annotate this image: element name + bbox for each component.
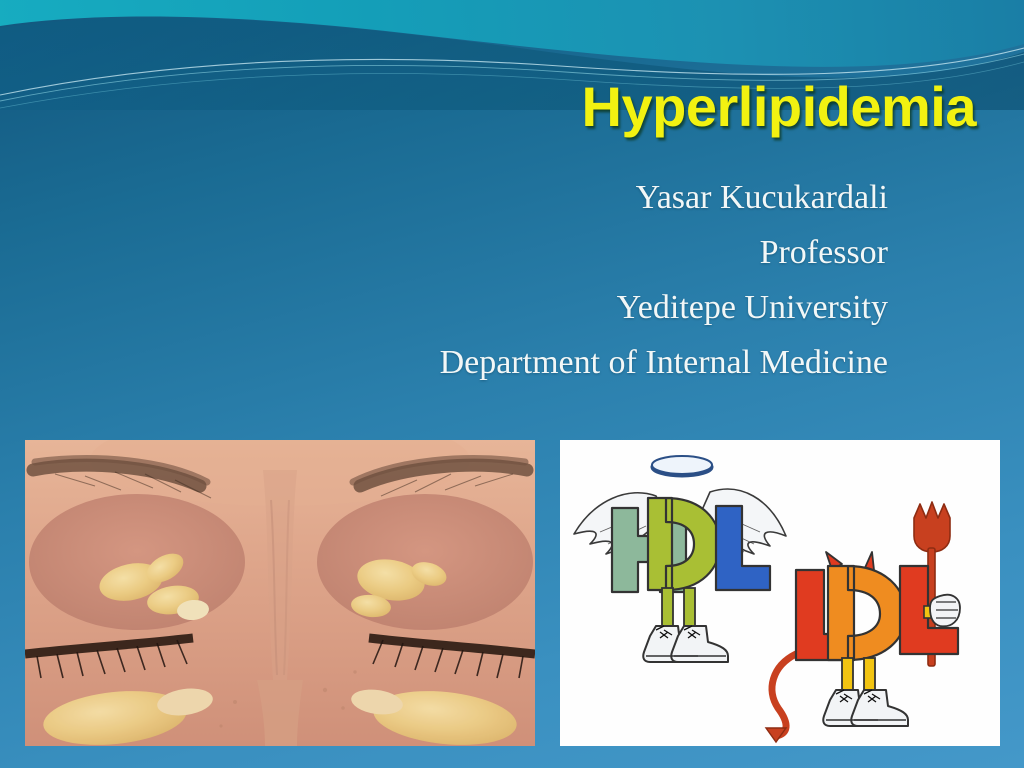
subtitle-institution: Yeditepe University: [0, 280, 888, 335]
slide-title: Hyperlipidemia: [0, 78, 976, 137]
halo-icon: [652, 456, 712, 476]
devil-hand-icon: [930, 595, 960, 627]
subtitle-role: Professor: [0, 225, 888, 280]
xanthelasma-eyelids-photo: [25, 440, 535, 746]
subtitle-department: Department of Internal Medicine: [0, 335, 888, 390]
subtitle-author: Yasar Kucukardali: [0, 170, 888, 225]
hdl-ldl-cartoon: [560, 440, 1000, 746]
wave-shape-teal: [0, 0, 1024, 67]
presentation-slide: Hyperlipidemia Yasar Kucukardali Profess…: [0, 0, 1024, 768]
slide-subtitle: Yasar Kucukardali Professor Yeditepe Uni…: [0, 170, 888, 390]
